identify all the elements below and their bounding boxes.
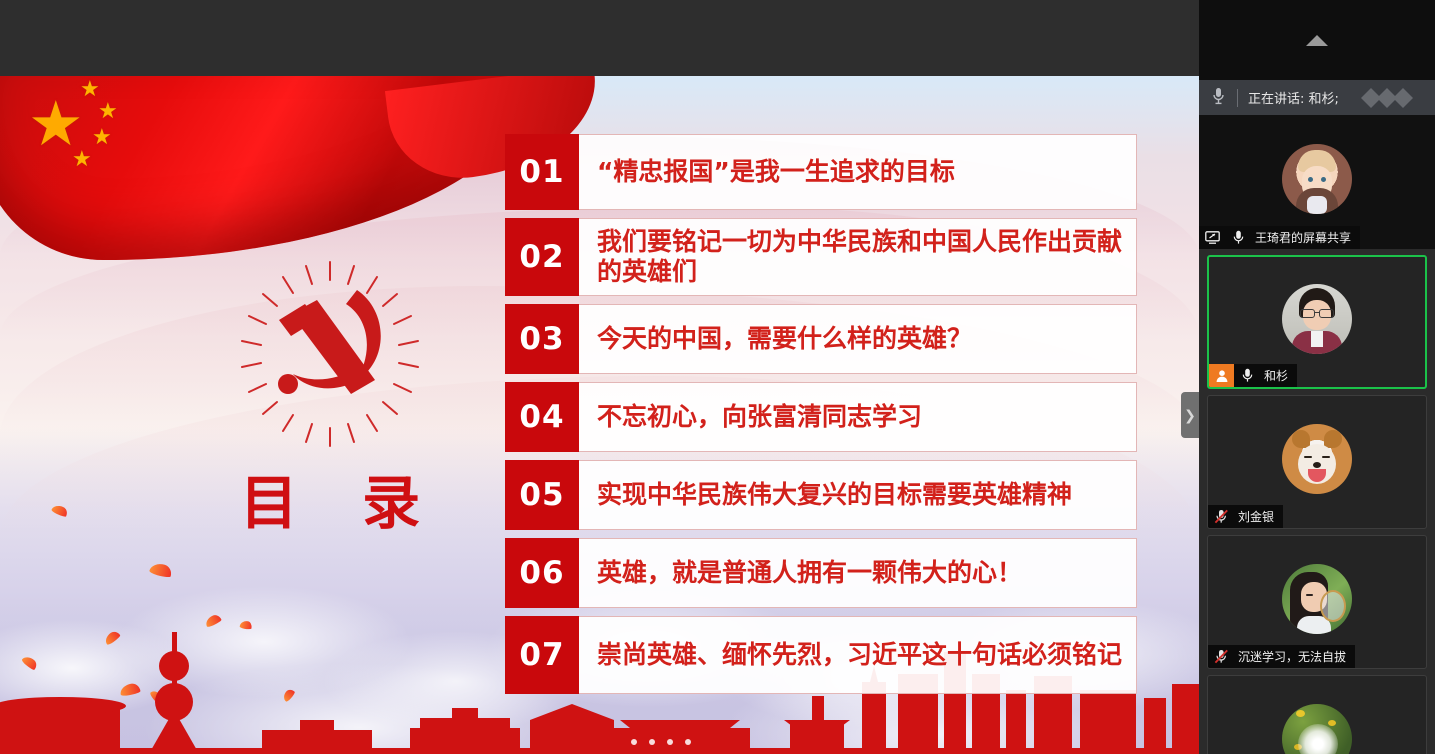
chevron-right-icon: ❯ bbox=[1184, 407, 1196, 424]
toc-number: 01 bbox=[505, 134, 579, 210]
toc-number: 04 bbox=[505, 382, 579, 452]
scroll-up-button[interactable] bbox=[1199, 0, 1435, 80]
avatar bbox=[1282, 144, 1352, 214]
active-speaker-bar: 正在讲话: 和杉; bbox=[1199, 80, 1435, 115]
flag-star-small: ★ bbox=[80, 78, 100, 100]
page-title: 目 录 bbox=[205, 456, 455, 540]
host-person-icon bbox=[1209, 364, 1234, 387]
shared-screen-area: ★ ★ ★ ★ ★ bbox=[0, 0, 1199, 754]
toc-label: 英雄，就是普通人拥有一颗伟大的心！ bbox=[579, 538, 1137, 608]
toc-row: 07 崇尚英雄、缅怀先烈，习近平这十句话必须铭记 bbox=[505, 616, 1137, 694]
active-speaker-label: 正在讲话: 和杉; bbox=[1248, 88, 1339, 107]
microphone-muted-icon bbox=[1208, 645, 1234, 668]
toc-row: 03 今天的中国，需要什么样的英雄？ bbox=[505, 304, 1137, 374]
toc-number: 06 bbox=[505, 538, 579, 608]
flag-star-small: ★ bbox=[98, 100, 118, 122]
toc-row: 01 “精忠报国”是我一生追求的目标 bbox=[505, 134, 1137, 210]
toc-row: 02 我们要铭记一切为中华民族和中国人民作出贡献的英雄们 bbox=[505, 218, 1137, 296]
toc-row: 04 不忘初心，向张富清同志学习 bbox=[505, 382, 1137, 452]
avatar bbox=[1282, 564, 1352, 634]
microphone-muted-icon bbox=[1208, 505, 1234, 528]
toc-number: 03 bbox=[505, 304, 579, 374]
participant-tile[interactable]: 沉迷学习，无法自拔 bbox=[1207, 535, 1427, 669]
toc-row: 06 英雄，就是普通人拥有一颗伟大的心！ bbox=[505, 538, 1137, 608]
divider bbox=[1237, 89, 1238, 107]
participant-tile[interactable]: 王琦君的屏幕共享 bbox=[1199, 115, 1435, 249]
hammer-sickle-emblem-icon bbox=[205, 256, 455, 456]
meeting-window: ★ ★ ★ ★ ★ bbox=[0, 0, 1435, 754]
participant-nameplate: 和杉 bbox=[1209, 364, 1297, 387]
triangle-up-icon bbox=[1306, 35, 1328, 46]
toc-label: “精忠报国”是我一生追求的目标 bbox=[579, 134, 1137, 210]
collapse-panel-button[interactable]: ❯ bbox=[1181, 392, 1199, 438]
participant-name: 王琦君的屏幕共享 bbox=[1255, 229, 1351, 246]
microphone-icon bbox=[1234, 364, 1260, 387]
microphone-icon bbox=[1199, 87, 1237, 109]
toc-number: 02 bbox=[505, 218, 579, 296]
flag-star-small: ★ bbox=[72, 148, 92, 170]
waveform-logo-icon bbox=[1359, 86, 1419, 110]
participant-tile[interactable]: 刘娜娜 bbox=[1207, 675, 1427, 754]
participant-name: 刘金银 bbox=[1238, 508, 1274, 525]
toc-label: 不忘初心，向张富清同志学习 bbox=[579, 382, 1137, 452]
participant-tile[interactable]: 刘金银 bbox=[1207, 395, 1427, 529]
presentation-slide: ★ ★ ★ ★ ★ bbox=[0, 76, 1199, 754]
participant-name: 和杉 bbox=[1264, 367, 1288, 384]
avatar bbox=[1282, 284, 1352, 354]
toc-number: 07 bbox=[505, 616, 579, 694]
participant-name: 沉迷学习，无法自拔 bbox=[1238, 648, 1346, 665]
participant-tile[interactable]: 和杉 bbox=[1207, 255, 1427, 389]
toc-label: 实现中华民族伟大复兴的目标需要英雄精神 bbox=[579, 460, 1137, 530]
avatar bbox=[1282, 424, 1352, 494]
toc-label: 我们要铭记一切为中华民族和中国人民作出贡献的英雄们 bbox=[579, 218, 1137, 296]
toc-number: 05 bbox=[505, 460, 579, 530]
participant-nameplate: 沉迷学习，无法自拔 bbox=[1208, 645, 1355, 668]
microphone-icon bbox=[1225, 226, 1251, 249]
participants-panel: 正在讲话: 和杉; bbox=[1199, 0, 1435, 754]
participant-nameplate: 刘金银 bbox=[1208, 505, 1283, 528]
avatar bbox=[1282, 704, 1352, 754]
toc-row: 05 实现中华民族伟大复兴的目标需要英雄精神 bbox=[505, 460, 1137, 530]
screen-share-icon bbox=[1199, 226, 1225, 249]
toc-label: 崇尚英雄、缅怀先烈，习近平这十句话必须铭记 bbox=[579, 616, 1137, 694]
participant-nameplate: 王琦君的屏幕共享 bbox=[1199, 226, 1360, 249]
toc-label: 今天的中国，需要什么样的英雄？ bbox=[579, 304, 1137, 374]
table-of-contents-list: 01 “精忠报国”是我一生追求的目标 02 我们要铭记一切为中华民族和中国人民作… bbox=[505, 134, 1137, 702]
participant-tiles: 王琦君的屏幕共享 bbox=[1199, 115, 1435, 754]
flag-star-small: ★ bbox=[92, 126, 112, 148]
